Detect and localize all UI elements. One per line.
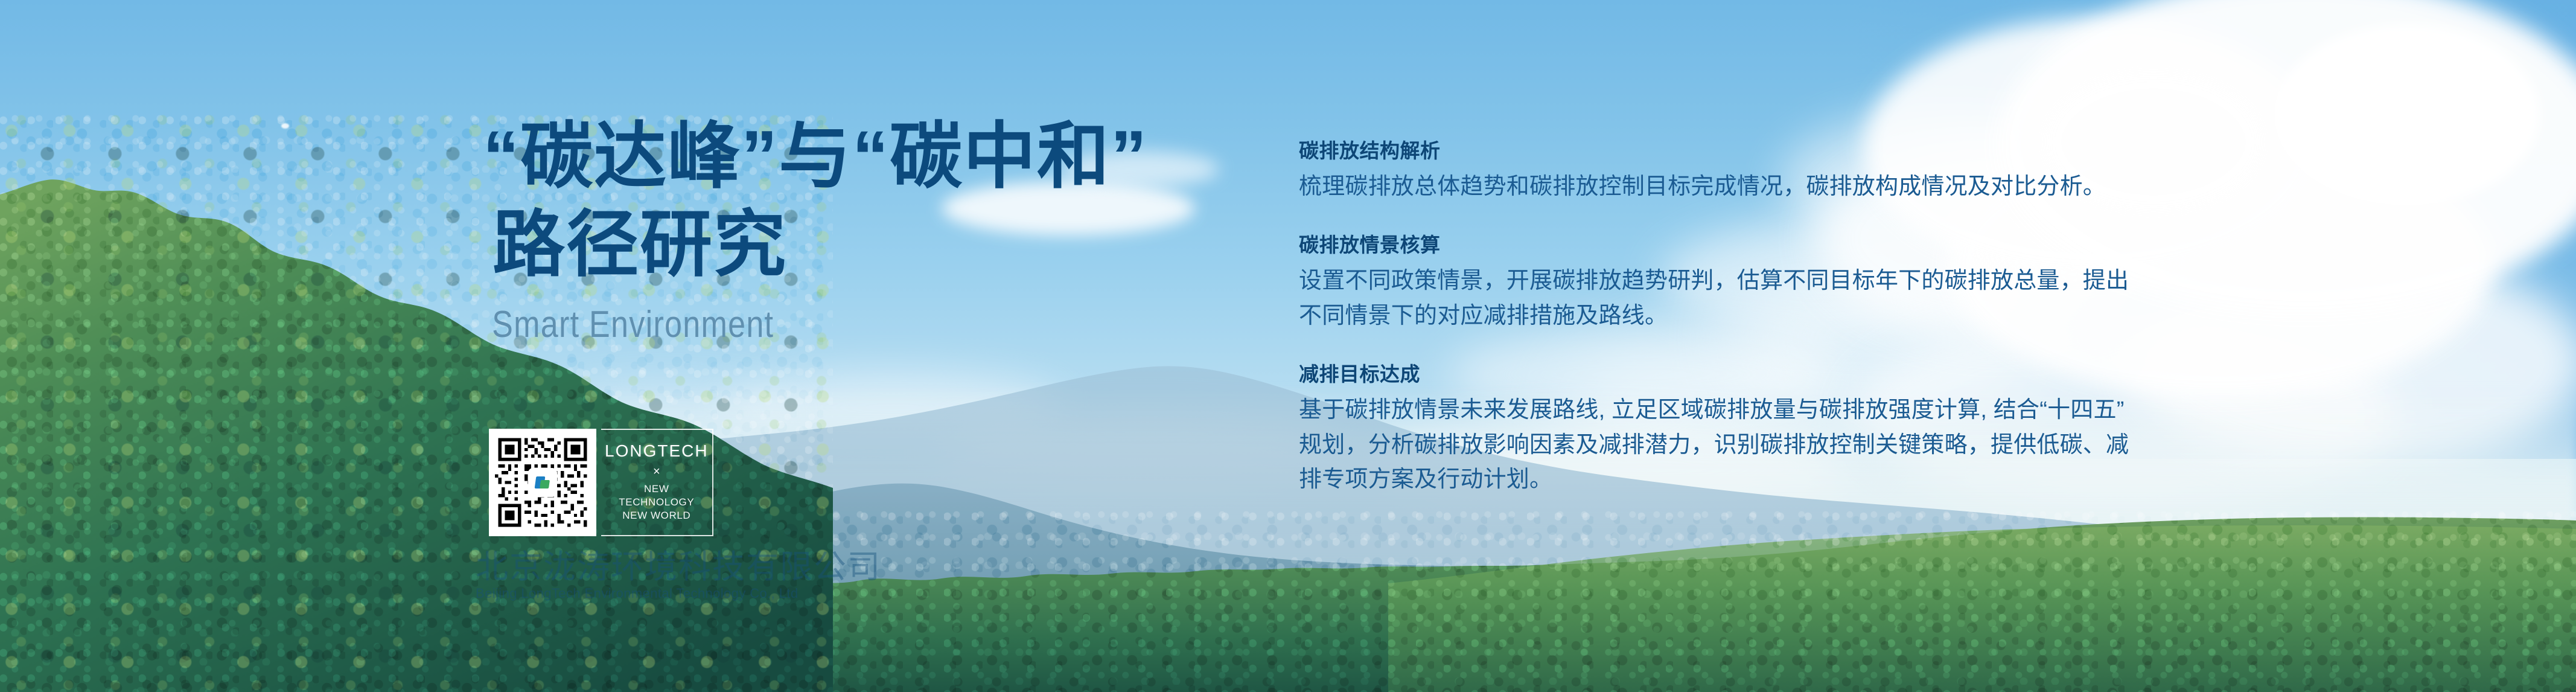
longtech-logo-icon [535,475,550,490]
content-sections: 碳排放结构解析 梳理碳排放总体趋势和碳排放控制目标完成情况，碳排放构成情况及对比… [1299,138,2144,498]
brand-panel: LONGTECH × NEW TECHNOLOGY NEW WORLD [601,429,713,536]
brand-name: LONGTECH [605,443,709,460]
section-scenario-accounting: 碳排放情景核算 设置不同政策情景，开展碳排放趋势研判，估算不同目标年下的碳排放总… [1299,232,2144,333]
section-carbon-structure: 碳排放结构解析 梳理碳排放总体趋势和碳排放控制目标完成情况，碳排放构成情况及对比… [1299,138,2144,204]
section-body: 基于碳排放情景未来发展路线, 立足区域碳排放量与碳排放强度计算, 结合“十四五”… [1299,393,2144,498]
brand-tagline: NEW TECHNOLOGY NEW WORLD [619,482,694,522]
section-body: 梳理碳排放总体趋势和碳排放控制目标完成情况，碳排放构成情况及对比分析。 [1299,170,2144,205]
section-heading: 减排目标达成 [1299,361,2144,388]
section-heading: 碳排放结构解析 [1299,138,2144,165]
qr-code-image[interactable] [495,435,590,530]
title-block: “碳达峰”与“碳中和” 路径研究 Smart Environment [483,112,1207,344]
qr-brand-card: LONGTECH × NEW TECHNOLOGY NEW WORLD [489,429,711,536]
section-reduction-target: 减排目标达成 基于碳排放情景未来发展路线, 立足区域碳排放量与碳排放强度计算, … [1299,361,2144,498]
cloud-r9 [2274,24,2540,205]
brand-separator-icon: × [653,466,660,478]
section-heading: 碳排放情景核算 [1299,232,2144,259]
section-body: 设置不同政策情景，开展碳排放趋势研判，估算不同目标年下的碳排放总量，提出不同情景… [1299,264,2144,334]
qr-code-card[interactable] [489,429,596,536]
page-title-line1: “碳达峰”与“碳中和” [483,112,1207,200]
banner-root: “碳达峰”与“碳中和” 路径研究 Smart Environment 碳排放结构… [0,0,2576,692]
page-subtitle: Smart Environment [483,306,1091,344]
page-title-line2: 路径研究 [483,200,1207,289]
qr-center-logo [529,469,556,496]
